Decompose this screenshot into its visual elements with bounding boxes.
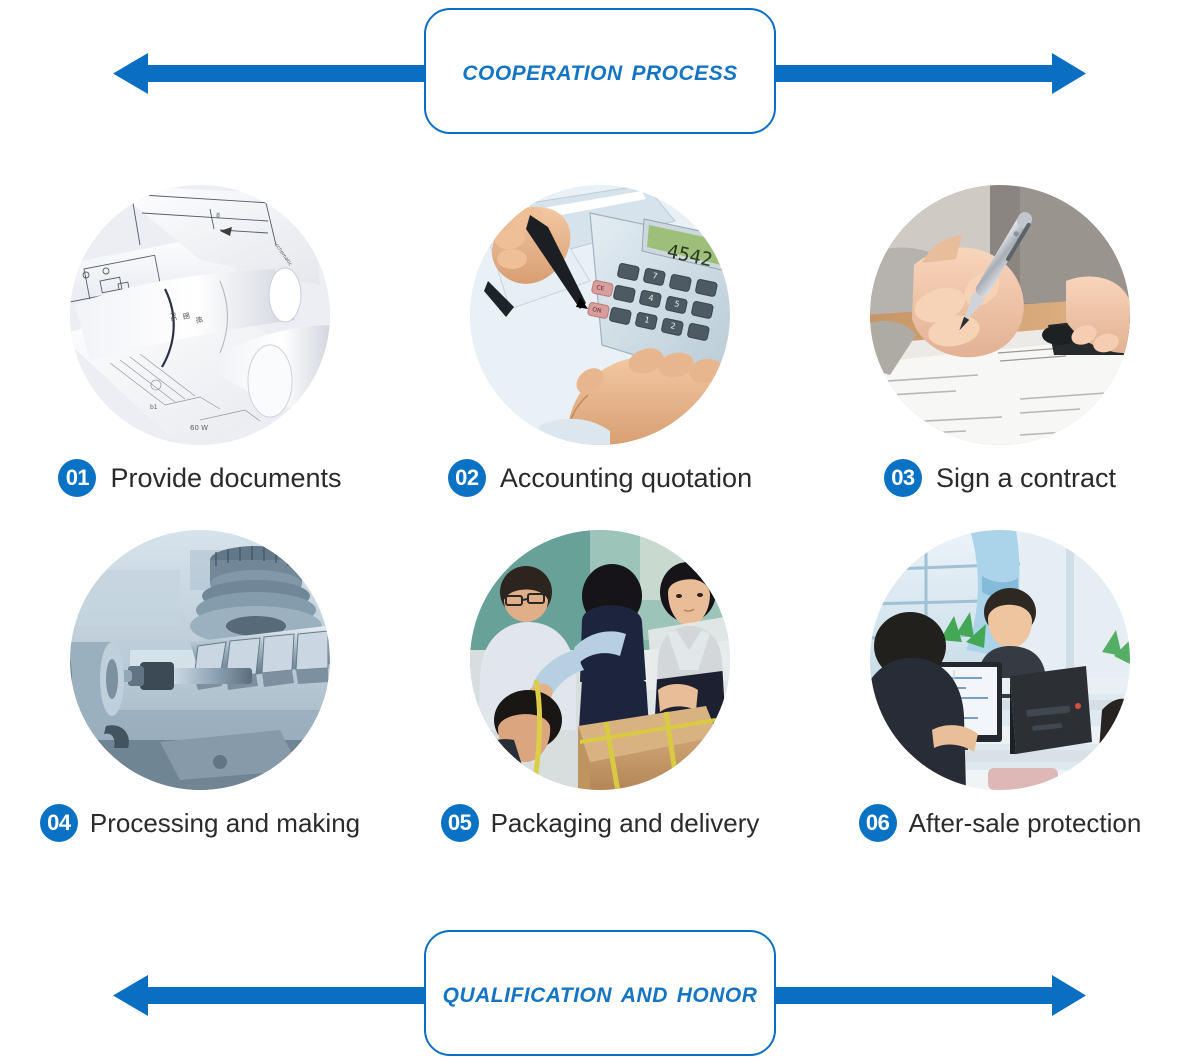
step-item-05[interactable]: 05 Packaging and delivery bbox=[400, 530, 800, 875]
step-badge-03: 03 bbox=[884, 459, 922, 497]
step-item-02[interactable]: 4542 bbox=[400, 185, 800, 530]
step-label-04: Processing and making bbox=[90, 808, 360, 839]
qualification-honor-title: Qualification And Honor bbox=[443, 976, 758, 1010]
office-support-photo bbox=[870, 530, 1130, 790]
cooperation-process-box: Cooperation Process bbox=[424, 8, 776, 134]
step-item-03[interactable]: 03 Sign a contract bbox=[800, 185, 1200, 530]
step-caption-01: 01 Provide documents bbox=[58, 459, 341, 497]
step-badge-02: 02 bbox=[448, 459, 486, 497]
step-item-06[interactable]: 06 After-sale protection bbox=[800, 530, 1200, 875]
step-badge-01: 01 bbox=[58, 459, 96, 497]
step-caption-04: 04 Processing and making bbox=[40, 804, 360, 842]
cooperation-process-title: Cooperation Process bbox=[462, 54, 737, 88]
step-badge-06: 06 bbox=[859, 804, 897, 842]
hands-calculator-photo: 4542 bbox=[470, 185, 730, 445]
cooperation-process-banner: Cooperation Process bbox=[0, 8, 1200, 138]
step-label-06: After-sale protection bbox=[909, 808, 1142, 839]
packaging-staff-photo bbox=[470, 530, 730, 790]
step-label-03: Sign a contract bbox=[936, 463, 1116, 494]
step-caption-03: 03 Sign a contract bbox=[884, 459, 1116, 497]
cnc-machining-photo bbox=[70, 530, 330, 790]
step-item-01[interactable]: 60 W b1 bbox=[0, 185, 400, 530]
qualification-honor-banner: Qualification And Honor bbox=[0, 930, 1200, 1060]
signing-contract-photo bbox=[870, 185, 1130, 445]
step-item-04[interactable]: 04 Processing and making bbox=[0, 530, 400, 875]
steps-row-2: 04 Processing and making bbox=[0, 530, 1200, 875]
step-label-02: Accounting quotation bbox=[500, 463, 752, 494]
rolled-blueprints-photo: 60 W b1 bbox=[70, 185, 330, 445]
qualification-honor-box: Qualification And Honor bbox=[424, 930, 776, 1056]
step-caption-06: 06 After-sale protection bbox=[859, 804, 1142, 842]
step-label-05: Packaging and delivery bbox=[491, 808, 760, 839]
step-caption-05: 05 Packaging and delivery bbox=[441, 804, 760, 842]
steps-row-1: 60 W b1 bbox=[0, 185, 1200, 530]
step-badge-05: 05 bbox=[441, 804, 479, 842]
step-caption-02: 02 Accounting quotation bbox=[448, 459, 752, 497]
process-steps-grid: 60 W b1 bbox=[0, 185, 1200, 875]
step-label-01: Provide documents bbox=[110, 463, 341, 494]
step-badge-04: 04 bbox=[40, 804, 78, 842]
